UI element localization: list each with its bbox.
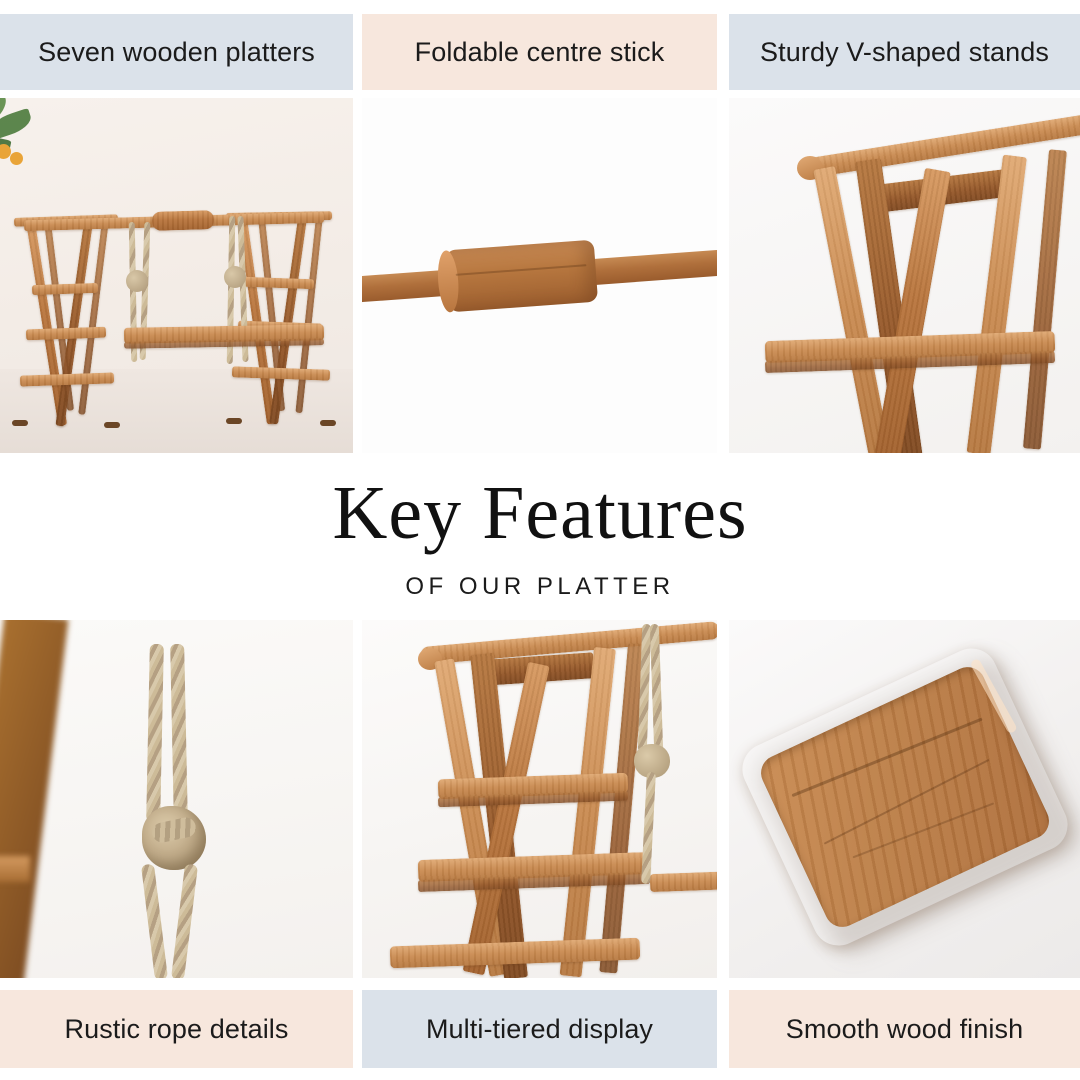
top-label-foldable-centre-stick: Foldable centre stick: [362, 14, 717, 90]
page-title: Key Features: [332, 475, 747, 551]
rope-knot-left: [126, 270, 148, 292]
title-block: Key Features OF OUR PLATTER: [0, 462, 1080, 614]
left-ladder: [18, 216, 138, 426]
plant-decoration: [0, 98, 90, 212]
top-label-seven-wooden-platters: Seven wooden platters: [0, 14, 353, 90]
top-label-text-1: Seven wooden platters: [38, 37, 315, 68]
bottom-label-multi-tiered-display: Multi-tiered display: [362, 990, 717, 1068]
top-label-sturdy-v-shaped-stands: Sturdy V-shaped stands: [729, 14, 1080, 90]
rope-knot-right: [224, 266, 246, 288]
centre-stick-sleeve: [445, 239, 598, 312]
wood-grain-streak: [852, 803, 994, 859]
photo-bottom-right: [729, 620, 1080, 978]
photo-top-left: [0, 98, 353, 453]
photo-bottom-centre: [362, 620, 717, 978]
bottom-label-smooth-wood-finish: Smooth wood finish: [729, 990, 1080, 1068]
photo-bottom-left: [0, 620, 353, 978]
photo-top-right: [729, 98, 1080, 453]
bottom-label-text-1: Rustic rope details: [64, 1014, 288, 1045]
bottom-label-text-2: Multi-tiered display: [426, 1014, 653, 1045]
bottom-label-text-3: Smooth wood finish: [786, 1014, 1023, 1045]
blurred-ladder-step: [0, 856, 30, 882]
wood-grain-line: [456, 263, 587, 275]
photo-top-centre: [362, 98, 717, 453]
page-subtitle: OF OUR PLATTER: [405, 573, 674, 601]
swing-platter: [650, 870, 717, 892]
bottom-label-rustic-rope-details: Rustic rope details: [0, 990, 353, 1068]
feature-collage-page: Seven wooden platters Foldable centre st…: [0, 0, 1080, 1080]
wood-grain-streak: [791, 718, 982, 798]
top-label-text-2: Foldable centre stick: [415, 37, 665, 68]
centre-stick-sleeve: [152, 210, 215, 231]
top-label-text-3: Sturdy V-shaped stands: [760, 37, 1049, 68]
